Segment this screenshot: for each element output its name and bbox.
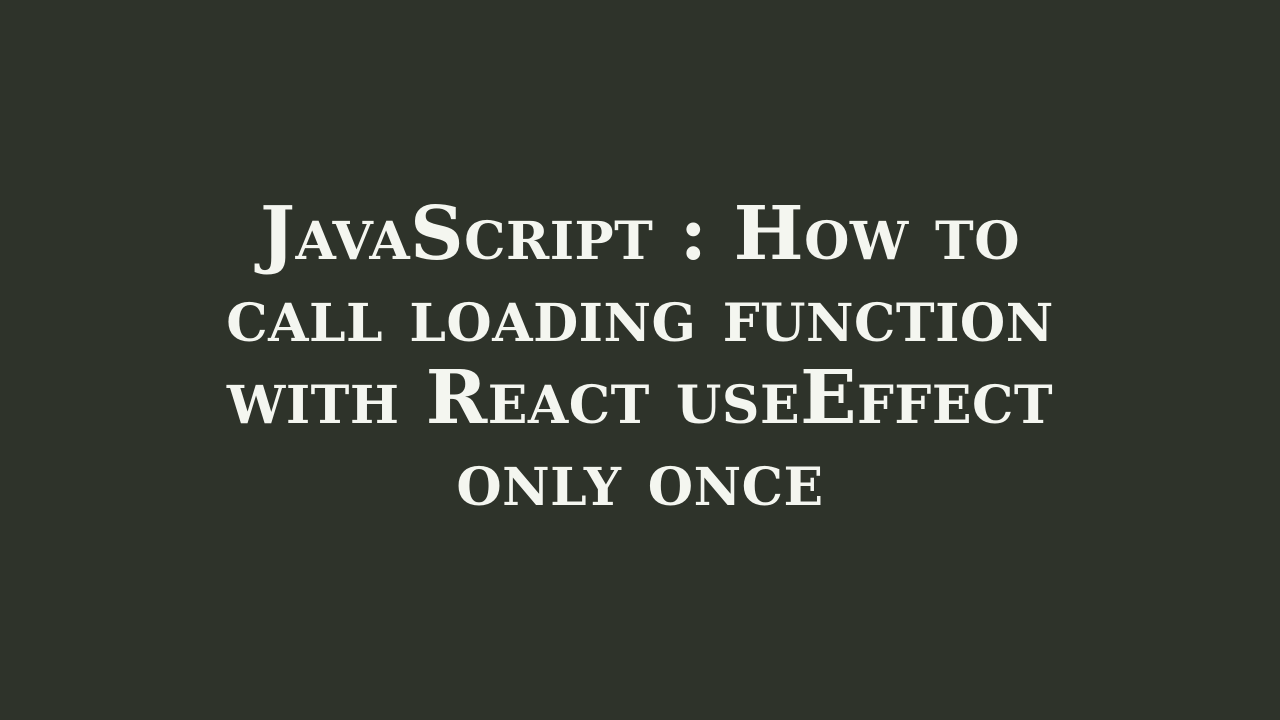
title-line-4: only once <box>110 439 1170 521</box>
title-line-3: with React useEffect <box>110 357 1170 439</box>
thumbnail-canvas: JavaScript : How to call loading functio… <box>0 0 1280 720</box>
title-line-2: call loading function <box>110 275 1170 357</box>
title-line-1: JavaScript : How to <box>110 193 1170 275</box>
page-title: JavaScript : How to call loading functio… <box>90 193 1190 521</box>
